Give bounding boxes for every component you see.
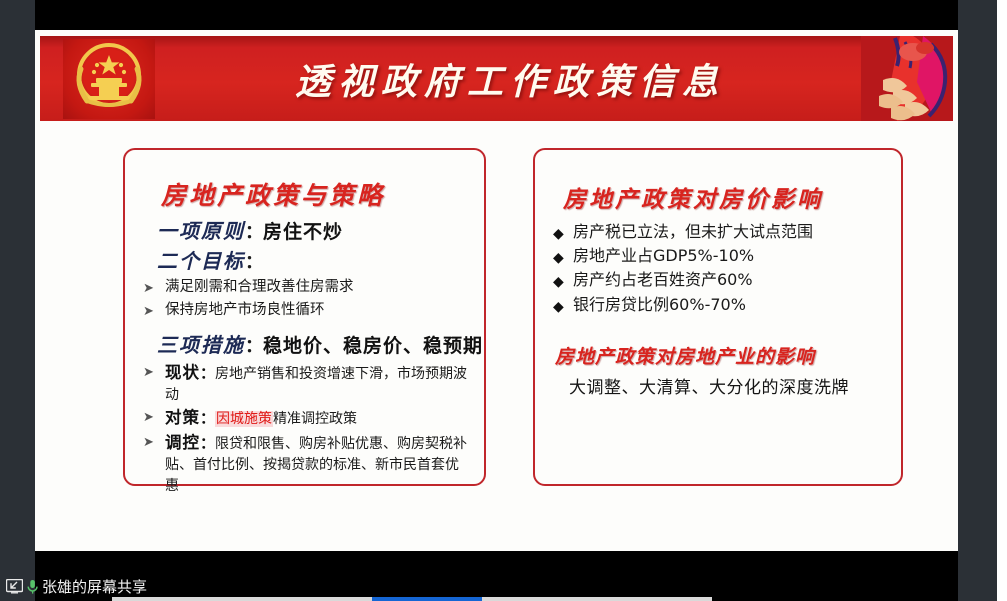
arrow-bullet-icon: ➤ [143,362,165,382]
detail-row: 对策：因城施策精准调控政策 [165,407,357,429]
list-item: ◆ 房产税已立法，但未扩大试点范围 [553,222,887,243]
measures-key: 三项措施 [157,333,245,357]
share-owner-label: 张雄的屏幕共享 [42,576,147,597]
left-panel-title: 房地产政策与策略 [161,176,470,212]
impact-item-text: 房产约占老百姓资产60% [573,270,753,291]
list-item: ➤ 满足刚需和合理改善住房需求 [143,278,470,298]
right-panel-title: 房地产政策对房价影响 [563,180,887,214]
list-item: ➤ 对策：因城施策精准调控政策 [143,407,470,429]
goal-list: ➤ 满足刚需和合理改善住房需求 ➤ 保持房地产市场良性循环 [143,278,470,321]
principle-value: 房住不炒 [263,221,343,243]
detail-separator: ： [200,409,215,427]
screen-share-icon [6,579,23,594]
shared-slide: 透视政府工作政策信息 [35,30,958,551]
list-item: ➤ 保持房地产市场良性循环 [143,301,470,321]
slide-title: 透视政府工作政策信息 [190,53,830,105]
folk-art-rooster-ornament-icon [861,36,953,121]
detail-key: 现状 [165,363,200,382]
detail-row: 调控：限贷和限售、购房补贴优惠、购房契税补贴、首付比例、按揭贷款的标准、新市民首… [165,432,470,495]
list-item: ◆ 房产约占老百姓资产60% [553,270,887,291]
detail-row: 现状：房地产销售和投资增速下滑，市场预期波动 [165,362,470,405]
goals-separator: ： [245,252,263,273]
impact-item-text: 银行房贷比例60%-70% [573,295,746,316]
principle-separator: ： [245,222,263,243]
letterbox-top [35,0,958,30]
impact-list: ◆ 房产税已立法，但未扩大试点范围 ◆ 房地产业占GDP5%-10% ◆ 房产约… [553,222,887,316]
meeting-window: 透视政府工作政策信息 [0,0,1007,601]
detail-separator: ： [200,434,215,452]
detail-tail: 精准调控政策 [273,411,357,427]
arrow-bullet-icon: ➤ [143,432,165,452]
panel-policy-impact: 房地产政策对房价影响 ◆ 房产税已立法，但未扩大试点范围 ◆ 房地产业占GDP5… [533,148,903,486]
arrow-bullet-icon: ➤ [143,407,165,427]
detail-key: 调控 [165,433,200,452]
arrow-bullet-icon: ➤ [143,301,165,321]
detail-separator: ： [200,364,215,382]
window-right-padding [997,0,1007,601]
arrow-bullet-icon: ➤ [143,278,165,298]
microphone-icon [26,579,39,595]
list-item: ◆ 银行房贷比例60%-70% [553,295,887,316]
list-item: ➤ 现状：房地产销售和投资增速下滑，市场预期波动 [143,362,470,405]
impact-item-text: 房产税已立法，但未扩大试点范围 [573,222,813,243]
detail-key: 对策 [165,408,200,427]
playback-progress-fill [372,597,482,601]
right-panel-tail-text: 大调整、大清算、大分化的深度洗牌 [569,373,887,398]
diamond-bullet-icon: ◆ [553,222,573,243]
right-panel-subtitle: 房地产政策对房地产业的影响 [555,342,887,369]
playback-progress-bar[interactable] [112,597,712,601]
detail-highlight: 因城施策 [215,411,273,427]
list-item: ➤ 调控：限贷和限售、购房补贴优惠、购房契税补贴、首付比例、按揭贷款的标准、新市… [143,432,470,495]
measures-value: 稳地价、稳房价、稳预期 [263,335,483,357]
goal-item-text: 保持房地产市场良性循环 [165,301,325,320]
diamond-bullet-icon: ◆ [553,270,573,291]
measures-line: 三项措施：稳地价、稳房价、稳预期 [157,329,470,358]
china-national-emblem-icon [63,39,155,119]
list-item: ◆ 房地产业占GDP5%-10% [553,246,887,267]
impact-item-text: 房地产业占GDP5%-10% [573,246,754,267]
detail-list: ➤ 现状：房地产销售和投资增速下滑，市场预期波动 ➤ 对策：因城施策精准调控政策… [143,362,470,496]
measures-separator: ： [245,336,263,357]
goals-key: 二个目标 [157,249,245,273]
goals-line: 二个目标： [157,248,470,275]
panel-real-estate-policy: 房地产政策与策略 一项原则：房住不炒 二个目标： ➤ 满足刚需和合理改善住房需求… [123,148,486,486]
diamond-bullet-icon: ◆ [553,295,573,316]
diamond-bullet-icon: ◆ [553,246,573,267]
goal-item-text: 满足刚需和合理改善住房需求 [165,278,354,297]
slide-banner: 透视政府工作政策信息 [40,36,953,121]
principle-line: 一项原则：房住不炒 [157,218,470,246]
principle-key: 一项原则 [157,219,245,243]
